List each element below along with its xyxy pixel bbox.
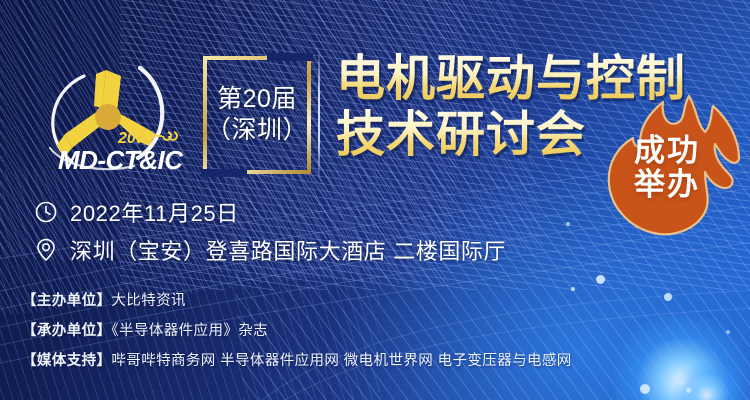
bokeh-dot	[640, 384, 650, 394]
edition-badge: 第20届 （深圳）	[203, 56, 311, 174]
location-pin-icon	[34, 238, 58, 262]
credit-media-value: 哔哥哔特商务网 半导体器件应用网 微电机世界网 电子变压器与电感网	[111, 353, 571, 369]
bokeh-dot	[566, 222, 570, 226]
event-date-row: 2022年11月25日	[34, 196, 239, 228]
md-ct-ic-logo: 20th MD-CT&IC	[22, 62, 207, 177]
clock-icon	[34, 200, 58, 224]
bokeh-glow-small	[672, 360, 742, 400]
event-venue-text: 深圳（宝安）登喜路国际大酒店 二楼国际厅	[70, 234, 506, 266]
event-date-text: 2022年11月25日	[70, 196, 239, 228]
credit-host-value: 《半导体器件应用》杂志	[111, 323, 268, 339]
bokeh-dot	[686, 388, 691, 393]
credit-media: 【媒体支持】哔哥哔特商务网 半导体器件应用网 微电机世界网 电子变压器与电感网	[22, 349, 572, 370]
bokeh-glow-large	[612, 312, 750, 400]
logo-wordmark: MD-CT&IC	[58, 145, 184, 175]
event-banner: 20th MD-CT&IC 第20届 （深圳） 电机驱动与控制 技术研讨会 成功…	[0, 0, 750, 400]
flame-badge: 成功 举办	[593, 88, 750, 240]
bokeh-dot	[571, 287, 575, 291]
flame-badge-line-1: 成功	[617, 134, 717, 168]
edition-line-1: 第20届	[217, 85, 297, 114]
bokeh-dot	[726, 330, 730, 334]
credit-host: 【承办单位】《半导体器件应用》杂志	[22, 319, 268, 340]
credit-media-label: 【媒体支持】	[22, 353, 111, 369]
credit-organizer-label: 【主办单位】	[22, 293, 111, 309]
vertical-divider	[318, 48, 320, 180]
bokeh-dot	[596, 275, 605, 284]
event-venue-row: 深圳（宝安）登喜路国际大酒店 二楼国际厅	[34, 234, 506, 266]
credit-organizer: 【主办单位】大比特资讯	[22, 289, 186, 310]
credit-host-label: 【承办单位】	[22, 323, 111, 339]
flame-badge-line-2: 举办	[617, 168, 717, 202]
edition-line-2: （深圳）	[206, 116, 308, 145]
credit-organizer-value: 大比特资讯	[111, 293, 186, 309]
bokeh-dot	[664, 293, 672, 301]
